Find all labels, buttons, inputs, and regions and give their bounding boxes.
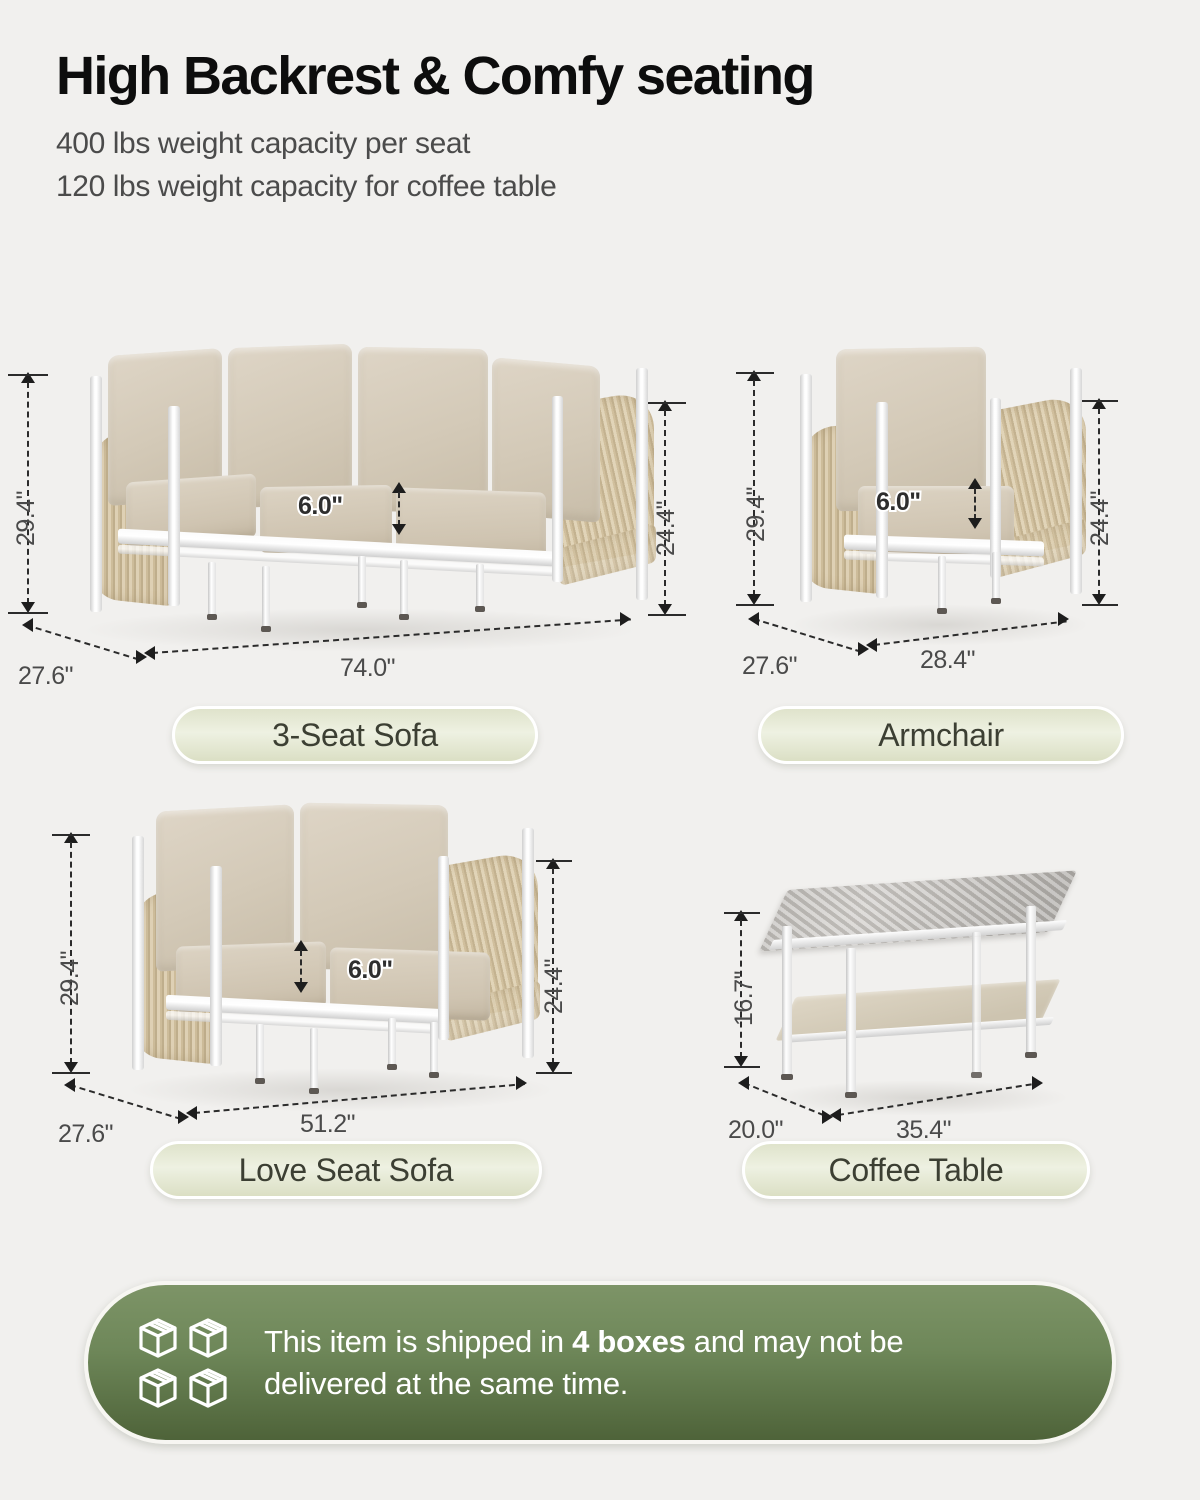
box-icon xyxy=(136,1366,180,1410)
dimension-width-sofa-label: 74.0" xyxy=(340,654,395,683)
product-label-coffee-table[interactable]: Coffee Table xyxy=(742,1141,1090,1199)
armchair-illustration xyxy=(740,340,1140,740)
dimension-cushion-sofa-label: 6.0" xyxy=(298,492,343,521)
product-cell-armchair: 29.4" 24.4" 6.0" 27.6" 28.4" xyxy=(740,340,1140,740)
shipping-text-post: and may not be xyxy=(685,1324,903,1359)
shipping-banner-text: This item is shipped in 4 boxes and may … xyxy=(264,1321,903,1405)
dimension-armheight-armchair-label: 24.4" xyxy=(1086,491,1115,546)
shipping-banner: This item is shipped in 4 boxes and may … xyxy=(84,1281,1116,1444)
product-diagram-grid: 29.4" 24.4" 6.0" 27.6" xyxy=(0,330,1200,1230)
shipping-text-pre: This item is shipped in xyxy=(264,1324,572,1359)
dimension-cushion-loveseat-label: 6.0" xyxy=(348,956,393,985)
product-label-love-seat-sofa[interactable]: Love Seat Sofa xyxy=(150,1141,542,1199)
seat-capacity-line: 400 lbs weight capacity per seat xyxy=(56,123,1200,166)
product-cell-love-seat-sofa: 29.4" 24.4" 6.0" 27.6" 51.2" xyxy=(70,800,630,1200)
shipping-box-count: 4 boxes xyxy=(572,1324,685,1359)
box-icon-group xyxy=(136,1316,230,1410)
dimension-height-armchair-label: 29.4" xyxy=(742,487,771,542)
capacity-subtitle: 400 lbs weight capacity per seat 120 lbs… xyxy=(56,123,1200,208)
box-icon xyxy=(186,1366,230,1410)
dimension-cushion-armchair-label: 6.0" xyxy=(876,488,921,517)
dimension-armheight-sofa-label: 24.4" xyxy=(652,501,681,556)
dimension-height-loveseat-label: 29.4" xyxy=(56,951,85,1006)
dimension-height-coffeetable-label: 16.7" xyxy=(730,971,759,1026)
shipping-text-line2: delivered at the same time. xyxy=(264,1363,903,1405)
dimension-depth-sofa-label: 27.6" xyxy=(18,662,73,691)
header: High Backrest & Comfy seating 400 lbs we… xyxy=(0,0,1200,208)
table-capacity-line: 120 lbs weight capacity for coffee table xyxy=(56,166,1200,209)
page-title: High Backrest & Comfy seating xyxy=(56,48,1200,105)
product-cell-3-seat-sofa: 29.4" 24.4" 6.0" 27.6" xyxy=(40,340,680,740)
box-icon xyxy=(186,1316,230,1360)
dimension-armheight-loveseat-label: 24.4" xyxy=(540,959,569,1014)
dimension-depth-armchair-label: 27.6" xyxy=(742,652,797,681)
product-label-3-seat-sofa[interactable]: 3-Seat Sofa xyxy=(172,706,538,764)
dimension-depth-loveseat-label: 27.6" xyxy=(58,1120,113,1149)
dimension-width-armchair-label: 28.4" xyxy=(920,646,975,675)
product-label-armchair[interactable]: Armchair xyxy=(758,706,1124,764)
dimension-height-sofa-label: 29.4" xyxy=(12,491,41,546)
box-icon xyxy=(136,1316,180,1360)
dimension-width-loveseat-label: 51.2" xyxy=(300,1110,355,1139)
